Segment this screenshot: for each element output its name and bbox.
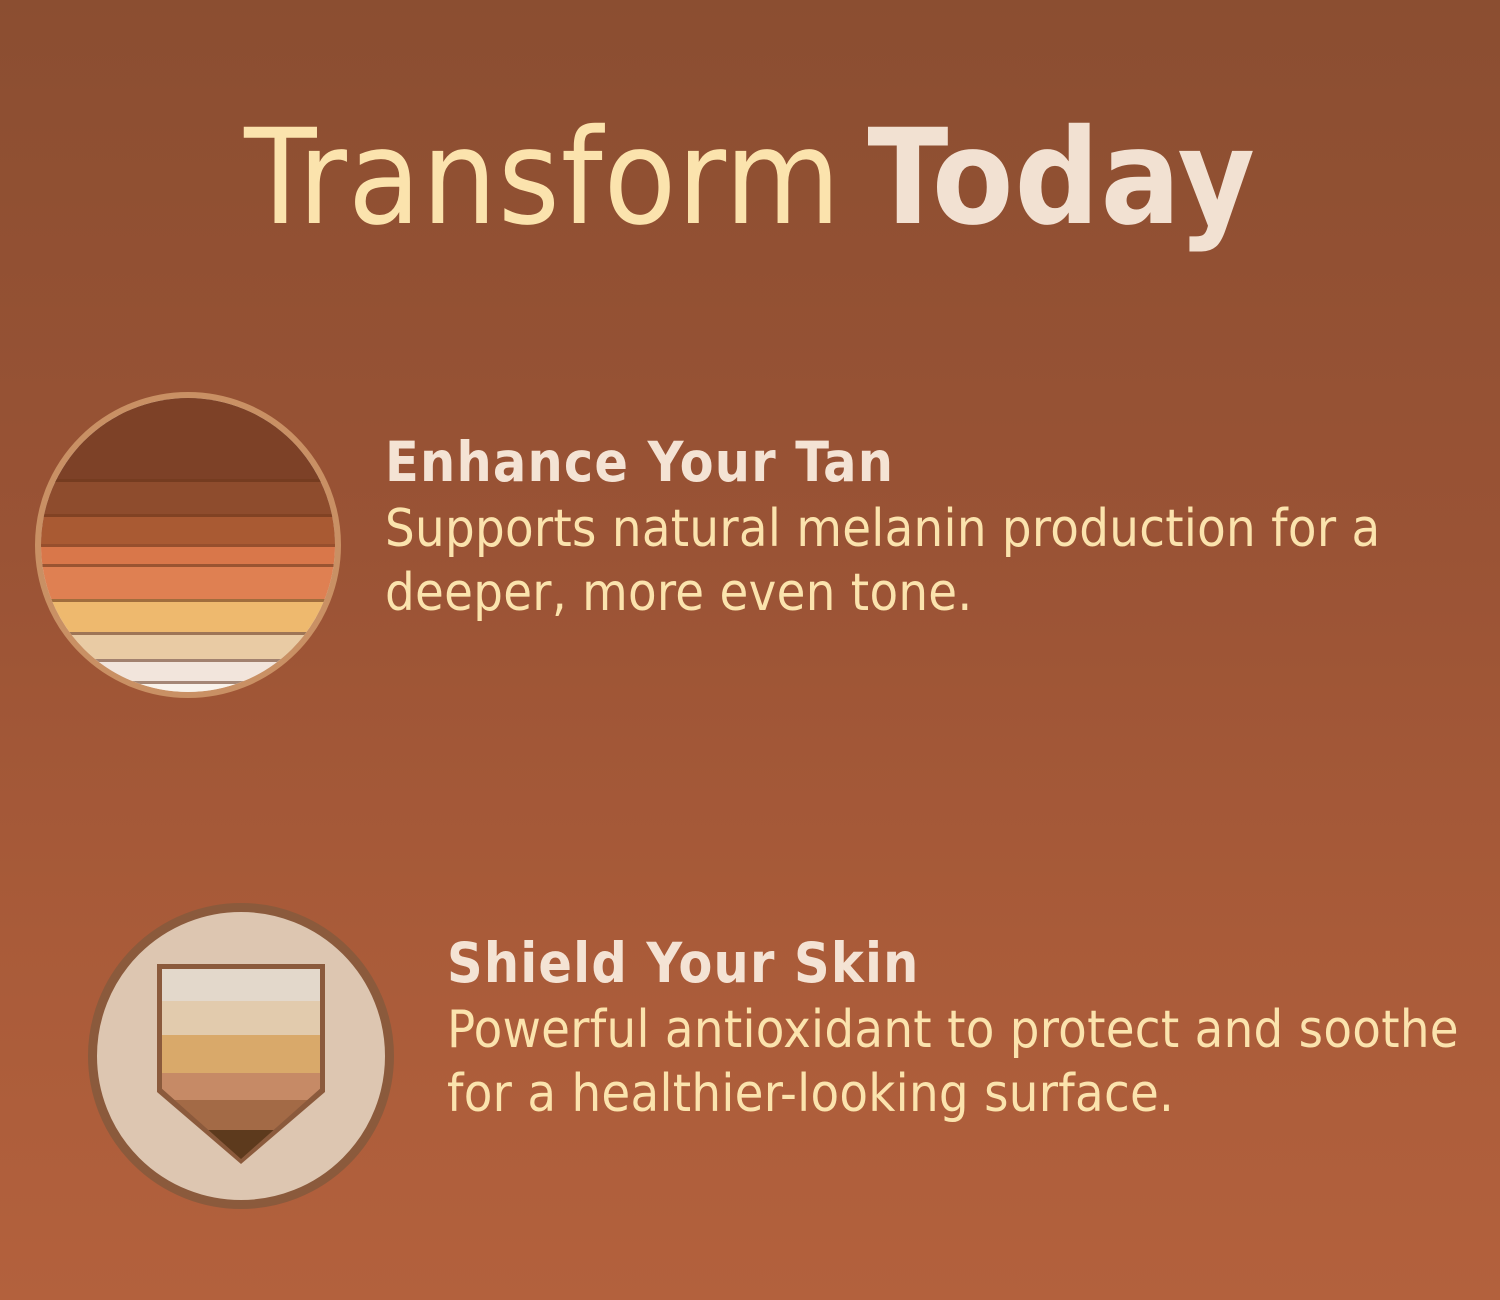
shield-band xyxy=(162,1073,320,1100)
gradient-band xyxy=(41,514,335,544)
shield-band xyxy=(162,1100,320,1130)
page-title-light: Transform xyxy=(244,101,841,255)
shield-band xyxy=(162,1001,320,1035)
gradient-band xyxy=(41,398,335,479)
gradient-band xyxy=(41,544,335,563)
poster-canvas: TransformToday Enhance Your Tan Supports… xyxy=(0,0,1500,1300)
shield-circle-icon xyxy=(88,903,394,1209)
feature-heading: Shield Your Skin xyxy=(447,935,1477,993)
gradient-band xyxy=(41,659,335,681)
shield-band xyxy=(162,1130,320,1159)
page-title: TransformToday xyxy=(0,112,1500,244)
gradient-band xyxy=(41,681,335,692)
feature-text-block: Enhance Your Tan Supports natural melani… xyxy=(385,434,1475,626)
shield-band xyxy=(162,1035,320,1073)
gradient-circle-icon xyxy=(35,392,341,698)
gradient-band xyxy=(41,599,335,632)
gradient-bands xyxy=(41,398,335,692)
gradient-band xyxy=(41,632,335,659)
feature-heading: Enhance Your Tan xyxy=(385,434,1475,492)
feature-text-block: Shield Your Skin Powerful antioxidant to… xyxy=(447,935,1477,1127)
feature-body: Supports natural melanin production for … xyxy=(385,498,1475,626)
gradient-band xyxy=(41,479,335,514)
page-title-bold: Today xyxy=(867,101,1256,255)
feature-body: Powerful antioxidant to protect and soot… xyxy=(447,999,1477,1127)
gradient-band xyxy=(41,564,335,599)
shield-bands xyxy=(162,969,320,1159)
shield-band xyxy=(162,969,320,1001)
shield-shape xyxy=(157,964,325,1164)
